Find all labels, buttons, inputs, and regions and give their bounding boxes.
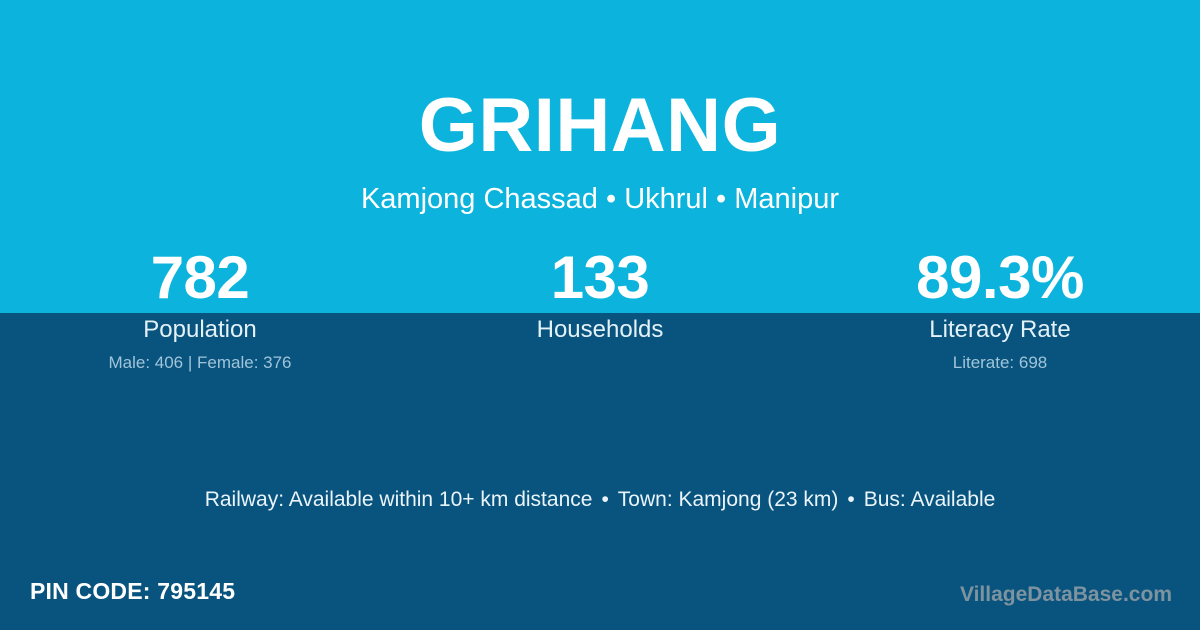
breadcrumb: Kamjong Chassad • Ukhrul • Manipur (0, 181, 1200, 217)
page-title: GRIHANG (0, 83, 1200, 169)
infra-bus: Bus: Available (864, 488, 996, 511)
infra-separator-1: • (592, 488, 617, 511)
infra-town: Town: Kamjong (23 km) (618, 488, 839, 511)
pin-code: PIN CODE: 795145 (30, 576, 235, 606)
stat-sub-population: Male: 406 | Female: 376 (0, 352, 400, 374)
infrastructure-line: Railway: Available within 10+ km distanc… (0, 486, 1200, 514)
infra-railway: Railway: Available within 10+ km distanc… (205, 488, 593, 511)
stat-value-literacy-rate: 89.3% (800, 243, 1200, 313)
stat-sub-literacy-rate: Literate: 698 (800, 352, 1200, 374)
stat-sub-households (400, 352, 800, 374)
stat-label-literacy-rate: Literacy Rate (800, 315, 1200, 345)
stat-households: 133 Households (400, 243, 800, 374)
stat-label-households: Households (400, 315, 800, 345)
stat-literacy-rate: 89.3% Literacy Rate Literate: 698 (800, 243, 1200, 374)
village-info-card: GRIHANG Kamjong Chassad • Ukhrul • Manip… (0, 0, 1200, 630)
infra-separator-2: • (838, 488, 863, 511)
site-watermark: VillageDataBase.com (960, 581, 1172, 609)
stats-row: 782 Population Male: 406 | Female: 376 1… (0, 243, 1200, 374)
stat-population: 782 Population Male: 406 | Female: 376 (0, 243, 400, 374)
stat-value-population: 782 (0, 243, 400, 313)
stat-value-households: 133 (400, 243, 800, 313)
stat-label-population: Population (0, 315, 400, 345)
